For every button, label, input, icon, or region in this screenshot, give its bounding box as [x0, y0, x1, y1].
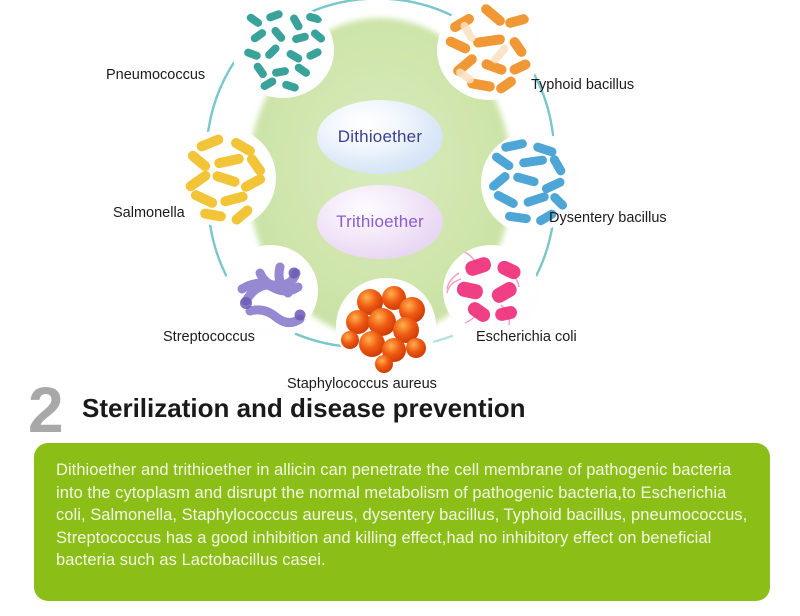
bacteria-ring-infographic: Dithioether Trithioether	[0, 0, 800, 400]
typhoid-bacillus-icon	[437, 0, 541, 100]
section-title: Sterilization and disease prevention	[82, 393, 526, 424]
description-text: Dithioether and trithioether in allicin …	[56, 459, 748, 572]
description-panel: Dithioether and trithioether in allicin …	[34, 443, 770, 601]
escherichia-coli-icon	[443, 245, 539, 337]
salmonella-icon	[178, 128, 276, 228]
trithioether-label: Trithioether	[317, 185, 443, 259]
bug-label-salmonella: Salmonella	[113, 205, 185, 221]
bug-label-staphylococcus-aureus: Staphylococcus aureus	[287, 376, 437, 392]
streptococcus-icon	[224, 245, 318, 337]
bug-label-dysentery-bacillus: Dysentery bacillus	[549, 210, 667, 226]
bug-label-streptococcus: Streptococcus	[163, 329, 255, 345]
bug-label-pneumococcus: Pneumococcus	[106, 67, 205, 83]
pneumococcus-icon	[232, 2, 334, 98]
section-number: 2	[28, 378, 64, 442]
dithioether-label: Dithioether	[317, 100, 443, 174]
staphylococcus-aureus-icon	[336, 278, 436, 374]
bug-label-escherichia-coli: Escherichia coli	[476, 329, 577, 345]
bug-label-typhoid-bacillus: Typhoid bacillus	[531, 77, 634, 93]
